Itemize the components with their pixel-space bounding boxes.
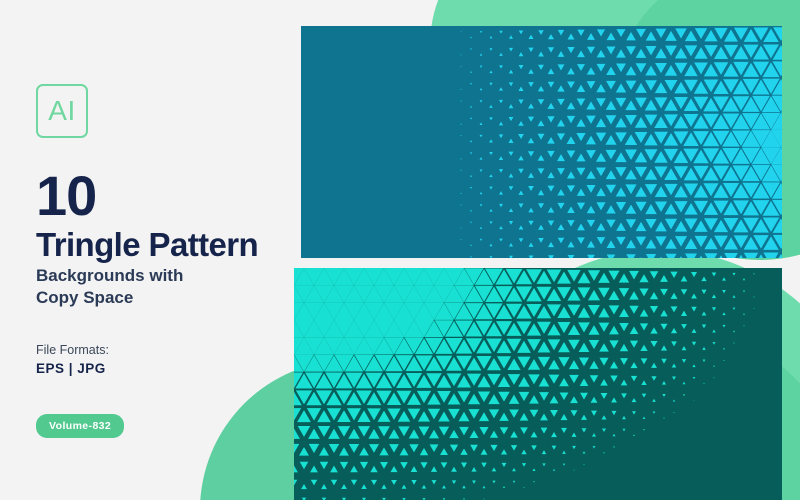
page-subtitle: Backgrounds with Copy Space — [36, 265, 256, 309]
triangle-lattice — [301, 26, 782, 258]
file-formats-label: File Formats: — [36, 343, 109, 357]
ai-format-badge-label: AI — [48, 97, 75, 125]
info-panel: AI 10 Tringle Pattern Backgrounds with C… — [36, 0, 298, 500]
page-subtitle-line-2: Copy Space — [36, 287, 256, 309]
pattern-preview-bottom — [294, 268, 782, 500]
triangle-lattice — [294, 268, 782, 500]
poster-canvas: AI 10 Tringle Pattern Backgrounds with C… — [0, 0, 800, 500]
ai-format-badge: AI — [36, 84, 88, 138]
file-formats-value: EPS | JPG — [36, 361, 106, 376]
page-title: Tringle Pattern — [36, 228, 258, 261]
item-count: 10 — [36, 168, 96, 224]
page-subtitle-line-1: Backgrounds with — [36, 265, 256, 287]
pattern-preview-top — [301, 26, 782, 258]
volume-badge: Volume-832 — [36, 414, 124, 438]
